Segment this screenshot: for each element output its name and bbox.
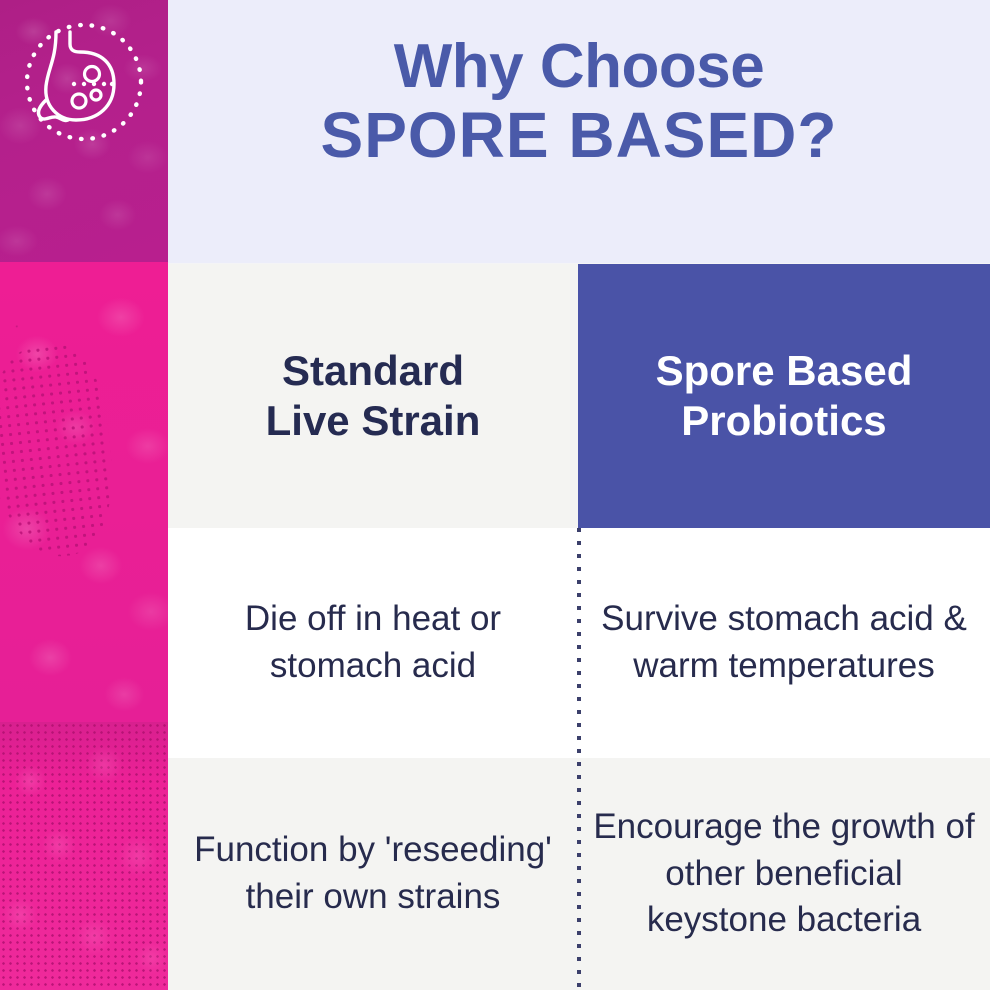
comparison-table: Standard Live Strain Spore Based Probiot…: [168, 263, 990, 990]
column-header-spore-based: Spore Based Probiotics: [578, 264, 990, 528]
stomach-icon: [18, 16, 158, 156]
cell-standard-row1: Die off in heat or stomach acid: [168, 528, 578, 758]
title-line-2: SPORE BASED?: [168, 101, 990, 170]
page-title: Why Choose SPORE BASED?: [168, 34, 990, 170]
cell-standard-row2: Function by 'reseeding' their own strain…: [168, 758, 578, 990]
column-header-standard: Standard Live Strain: [168, 264, 578, 528]
column-header-standard-line1: Standard: [266, 346, 481, 396]
column-header-standard-line2: Live Strain: [266, 396, 481, 446]
column-header-spore-line2: Probiotics: [656, 396, 913, 446]
texture-zone-middle: [0, 262, 168, 722]
column-divider-dotted: [577, 528, 581, 990]
cell-spore-row1: Survive stomach acid & warm temperatures: [578, 528, 990, 758]
cell-spore-row2: Encourage the growth of other beneficial…: [578, 758, 990, 990]
column-header-spore-line1: Spore Based: [656, 346, 913, 396]
infographic-root: Why Choose SPORE BASED? Standard Live St…: [0, 0, 990, 990]
title-band: Why Choose SPORE BASED?: [168, 0, 990, 263]
title-line-1: Why Choose: [168, 34, 990, 101]
texture-zone-bottom: [0, 722, 168, 990]
